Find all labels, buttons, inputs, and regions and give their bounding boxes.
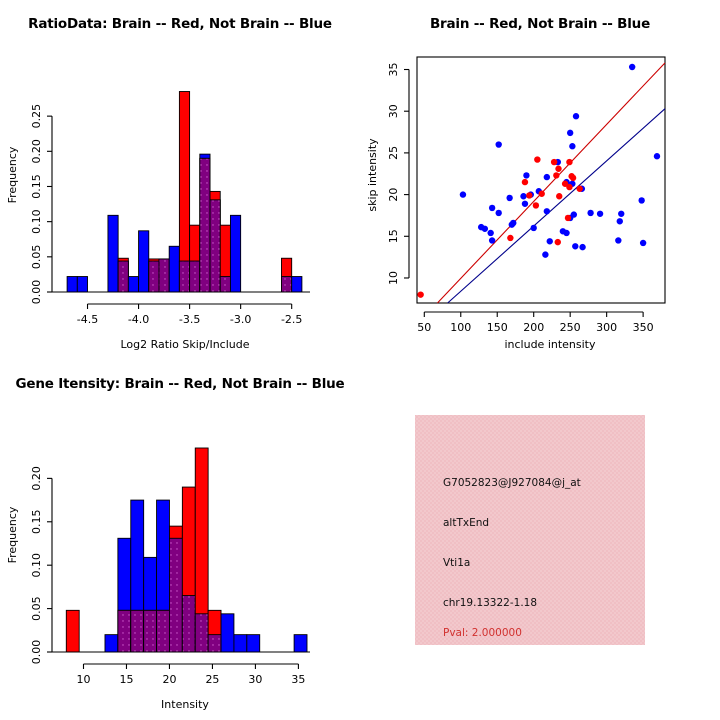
- scatter-x-axis-label: include intensity: [504, 338, 596, 351]
- svg-text:0.25: 0.25: [30, 104, 43, 129]
- svg-text:20: 20: [162, 673, 176, 686]
- svg-text:0.00: 0.00: [30, 640, 43, 665]
- panel-gene-info: G7052823@J927084@j_at altTxEnd Vti1a chr…: [360, 360, 720, 720]
- svg-text:0.20: 0.20: [30, 466, 43, 491]
- ratio-histogram-bars: [67, 92, 302, 292]
- scatter-fit-lines: [437, 63, 665, 303]
- scatter-plot: 10152025303550100150200250300350 include…: [360, 0, 720, 360]
- panel-scatter-plot: Brain -- Red, Not Brain -- Blue 10152025…: [360, 0, 720, 360]
- scatter-data-points: [417, 64, 660, 298]
- svg-text:25: 25: [205, 673, 219, 686]
- svg-text:25: 25: [387, 146, 400, 160]
- scatter-y-axis-label: skip intensity: [366, 138, 379, 212]
- svg-text:15: 15: [387, 229, 400, 243]
- gene-x-axis-label: Intensity: [161, 698, 209, 711]
- svg-text:200: 200: [523, 321, 544, 334]
- ratio-histogram-axes: 0.000.050.100.150.200.25-4.5-4.0-3.5-3.0…: [30, 104, 310, 326]
- svg-text:35: 35: [291, 673, 305, 686]
- svg-text:0.10: 0.10: [30, 553, 43, 578]
- svg-text:-4.0: -4.0: [128, 313, 149, 326]
- svg-text:350: 350: [633, 321, 654, 334]
- svg-text:-3.5: -3.5: [179, 313, 200, 326]
- svg-text:0.15: 0.15: [30, 174, 43, 199]
- svg-text:20: 20: [387, 188, 400, 202]
- info-gene-symbol: Vti1a: [443, 557, 470, 569]
- svg-text:0.05: 0.05: [30, 596, 43, 621]
- figure-canvas: RatioData: Brain -- Red, Not Brain -- Bl…: [0, 0, 720, 720]
- svg-text:0.05: 0.05: [30, 245, 43, 270]
- svg-text:50: 50: [417, 321, 431, 334]
- scatter-axes: 10152025303550100150200250300350: [387, 63, 654, 334]
- info-locus: chr19.13322-1.18: [443, 597, 537, 609]
- gene-histogram-plot: 0.000.050.100.150.20101520253035 Intensi…: [0, 360, 360, 720]
- info-box-texture: [415, 415, 645, 645]
- svg-text:30: 30: [248, 673, 262, 686]
- svg-text:0.00: 0.00: [30, 280, 43, 305]
- svg-text:250: 250: [560, 321, 581, 334]
- svg-text:10: 10: [76, 673, 90, 686]
- svg-text:30: 30: [387, 104, 400, 118]
- svg-text:100: 100: [450, 321, 471, 334]
- ratio-x-axis-label: Log2 Ratio Skip/Include: [120, 338, 249, 351]
- info-probe-id: G7052823@J927084@j_at: [443, 477, 581, 489]
- gene-y-axis-label: Frequency: [6, 506, 19, 563]
- ratio-histogram-plot: 0.000.050.100.150.200.25-4.5-4.0-3.5-3.0…: [0, 0, 360, 360]
- gene-histogram-bars: [66, 448, 307, 652]
- svg-text:0.10: 0.10: [30, 209, 43, 234]
- ratio-y-axis-label: Frequency: [6, 146, 19, 203]
- svg-text:35: 35: [387, 63, 400, 77]
- svg-text:0.15: 0.15: [30, 510, 43, 535]
- panel-ratio-histogram: RatioData: Brain -- Red, Not Brain -- Bl…: [0, 0, 360, 360]
- gene-info-box: G7052823@J927084@j_at altTxEnd Vti1a chr…: [415, 415, 645, 645]
- svg-text:-3.0: -3.0: [230, 313, 251, 326]
- svg-text:15: 15: [119, 673, 133, 686]
- svg-text:300: 300: [596, 321, 617, 334]
- scatter-plot-frame: [417, 57, 665, 303]
- info-pval: Pval: 2.000000: [443, 627, 522, 639]
- svg-text:0.20: 0.20: [30, 139, 43, 164]
- svg-text:-4.5: -4.5: [77, 313, 98, 326]
- info-event-type: altTxEnd: [443, 517, 489, 529]
- svg-text:150: 150: [487, 321, 508, 334]
- svg-text:-2.5: -2.5: [281, 313, 302, 326]
- panel-gene-histogram: Gene Itensity: Brain -- Red, Not Brain -…: [0, 360, 360, 720]
- svg-text:10: 10: [387, 271, 400, 285]
